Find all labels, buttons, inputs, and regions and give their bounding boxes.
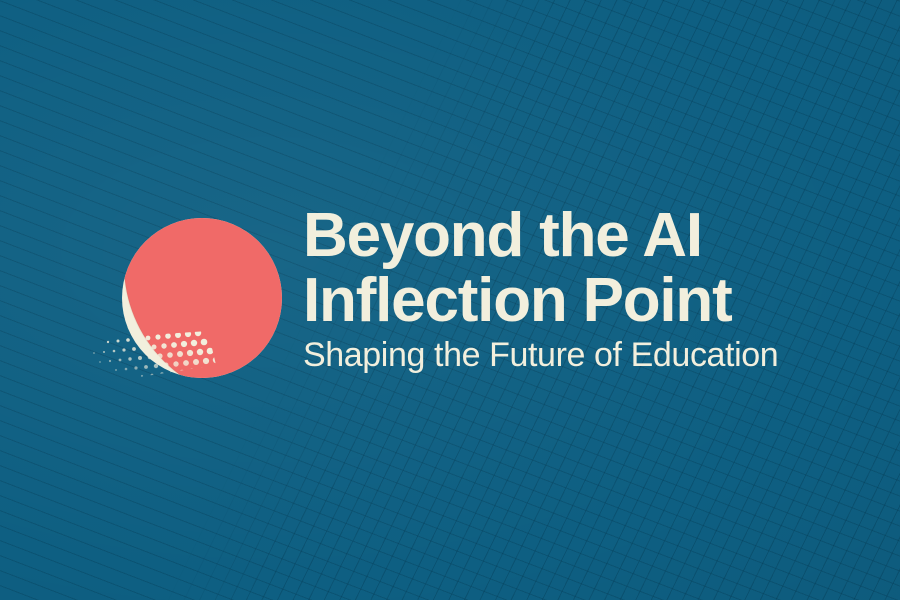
page-title-line-1: Beyond the AI [303,206,863,267]
wordmark-block: Beyond the AI Inflection Point Shaping t… [303,206,863,372]
page-subtitle: Shaping the Future of Education [303,338,863,372]
banner-content: Beyond the AI Inflection Point Shaping t… [0,0,900,600]
promo-banner: Beyond the AI Inflection Point Shaping t… [0,0,900,600]
page-title-line-2: Inflection Point [303,271,863,332]
split-sphere-logo [48,205,293,390]
